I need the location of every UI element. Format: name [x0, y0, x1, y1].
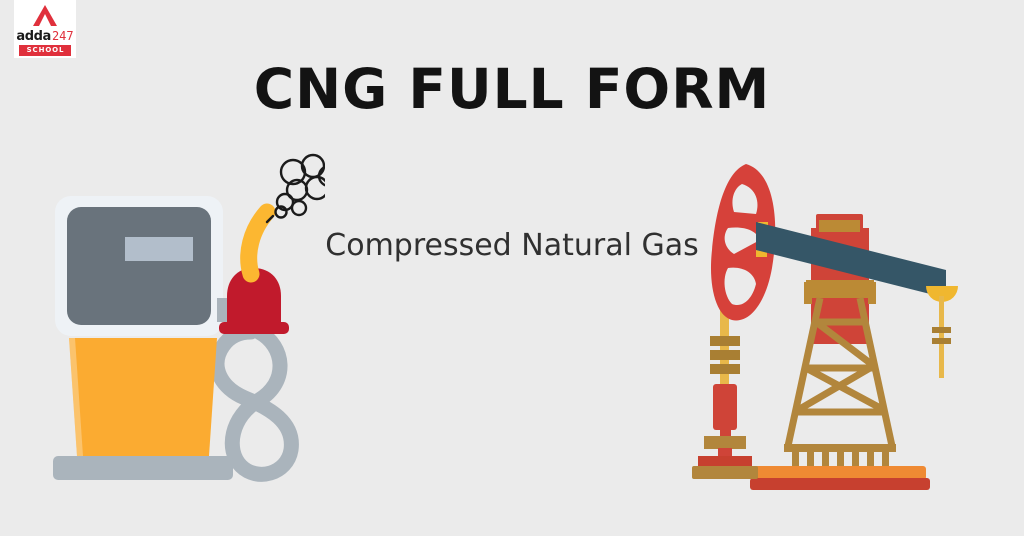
- pump-hose-icon: [217, 332, 291, 474]
- adda247-school-logo[interactable]: adda 247 SCHOOL: [14, 0, 76, 58]
- poster-canvas: adda 247 SCHOOL CNG FULL FORM Compressed…: [0, 0, 1024, 536]
- adda-triangle-a-icon: [32, 4, 58, 28]
- oil-pumpjack-illustration: [680, 150, 980, 498]
- pump-display-panel: [67, 207, 211, 325]
- stuffing-box-assembly: [692, 336, 758, 479]
- gas-cloud-icon: [267, 155, 325, 222]
- logo-word-247: 247: [52, 30, 74, 42]
- pump-body: [69, 338, 217, 456]
- logo-word-adda: adda: [16, 30, 51, 43]
- logo-wordmark: adda 247: [16, 30, 73, 43]
- fuel-pump-illustration: [45, 150, 325, 490]
- lattice-tower: [788, 298, 892, 446]
- logo-school-badge: SCHOOL: [19, 45, 72, 56]
- pump-base: [53, 456, 233, 480]
- pump-display-readout: [125, 237, 193, 261]
- rig-base-platform: [750, 466, 930, 490]
- page-title: CNG FULL FORM: [0, 57, 1024, 121]
- fuel-nozzle-icon: [219, 212, 289, 334]
- bridle-hanger: [926, 286, 958, 378]
- tower-foot-posts: [784, 444, 896, 468]
